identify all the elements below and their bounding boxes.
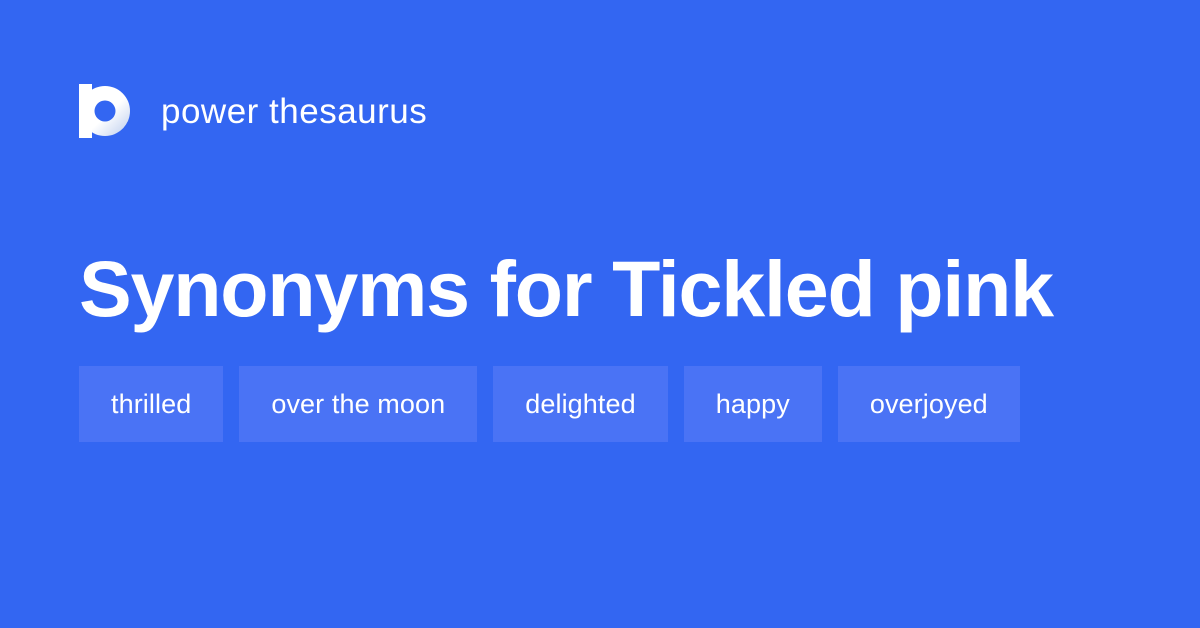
synonym-tag[interactable]: over the moon [239, 366, 477, 442]
brand-name: power thesaurus [161, 94, 427, 129]
brand-header[interactable]: power thesaurus [79, 80, 427, 142]
power-thesaurus-b-logo-icon [79, 84, 131, 138]
synonym-tag[interactable]: delighted [493, 366, 668, 442]
synonym-tag[interactable]: happy [684, 366, 822, 442]
page-title: Synonyms for Tickled pink [79, 249, 1139, 330]
synonym-tag[interactable]: thrilled [79, 366, 223, 442]
share-card: power thesaurus Synonyms for Tickled pin… [0, 0, 1200, 628]
synonym-tag[interactable]: overjoyed [838, 366, 1020, 442]
synonym-tag-list: thrilled over the moon delighted happy o… [79, 366, 1129, 442]
